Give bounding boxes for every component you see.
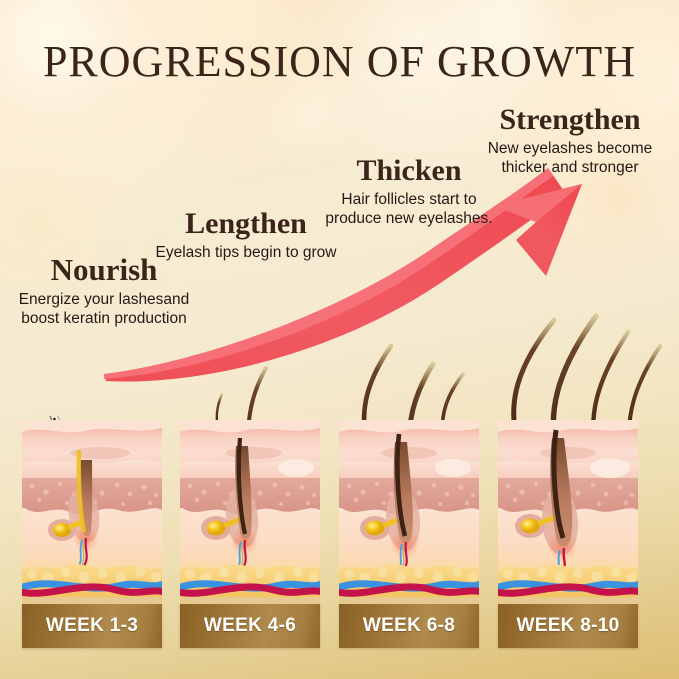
stage-heading: Lengthen bbox=[148, 208, 344, 240]
skin-diagram-week-8-10 bbox=[498, 420, 638, 605]
stage-label-strengthen: Strengthen New eyelashes become thicker … bbox=[468, 104, 672, 177]
stage-label-lengthen: Lengthen Eyelash tips begin to grow bbox=[148, 208, 344, 262]
week-label-text: WEEK 6-8 bbox=[363, 615, 455, 637]
arrow-head bbox=[494, 184, 582, 276]
page-title: PROGRESSION OF GROWTH bbox=[0, 36, 679, 87]
skin-diagram-week-6-8 bbox=[339, 420, 479, 605]
skin-cross-section bbox=[498, 420, 638, 605]
week-label-text: WEEK 8-10 bbox=[516, 615, 619, 637]
week-label-bar: WEEK 1-3 bbox=[22, 604, 162, 648]
week-label-bar: WEEK 4-6 bbox=[180, 604, 320, 648]
arrow-head-highlight bbox=[494, 184, 582, 222]
stage-description: Eyelash tips begin to grow bbox=[148, 243, 344, 262]
skin-diagram-week-1-3 bbox=[22, 420, 162, 605]
skin-cross-section bbox=[339, 420, 479, 605]
week-label-text: WEEK 1-3 bbox=[46, 615, 138, 637]
stage-heading: Strengthen bbox=[468, 104, 672, 136]
week-label-bar: WEEK 6-8 bbox=[339, 604, 479, 648]
infographic-canvas: PROGRESSION OF GROWTH Nourish Energize y… bbox=[0, 0, 679, 679]
skin-cross-section bbox=[22, 420, 162, 605]
stage-description: Hair follicles start to produce new eyel… bbox=[316, 190, 502, 228]
stage-description: New eyelashes become thicker and stronge… bbox=[468, 139, 672, 177]
week-label-bar: WEEK 8-10 bbox=[498, 604, 638, 648]
skin-diagram-week-4-6 bbox=[180, 420, 320, 605]
week-label-text: WEEK 4-6 bbox=[204, 615, 296, 637]
skin-cross-section bbox=[180, 420, 320, 605]
